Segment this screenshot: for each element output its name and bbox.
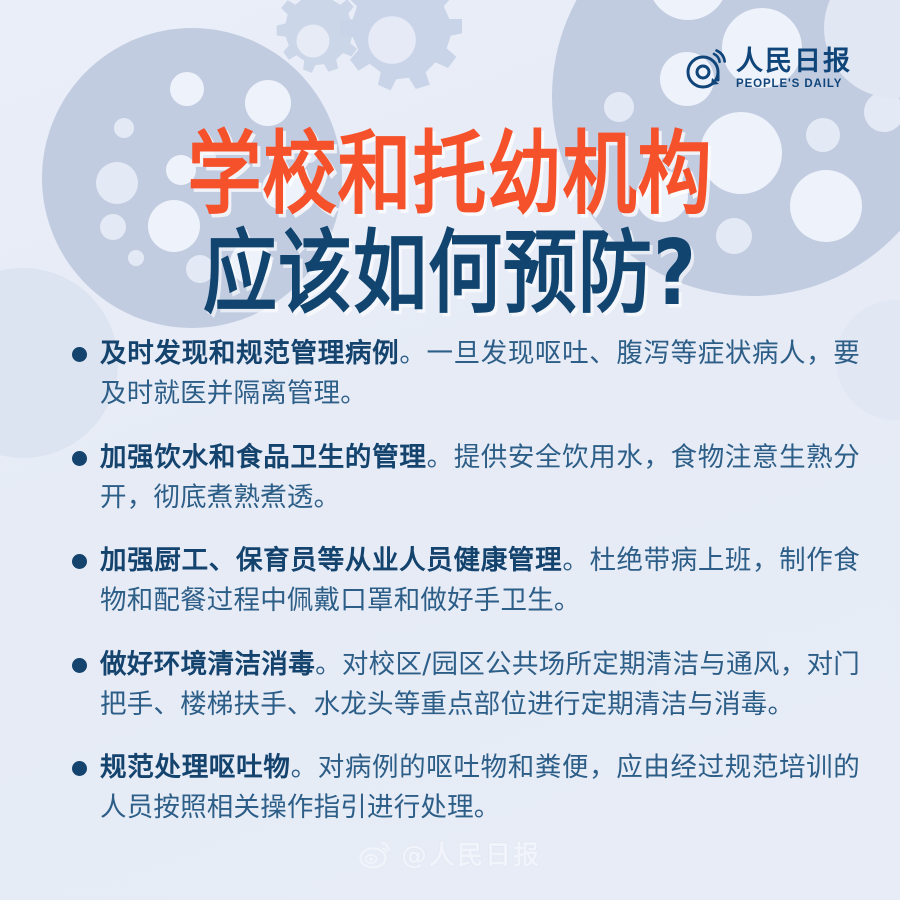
infographic-poster: 人民日报 PEOPLE'S DAILY 学校和托幼机构 应该如何预防? 及时发现… xyxy=(0,0,900,900)
list-item-lead: 做好环境清洁消毒 xyxy=(100,649,315,680)
list-item: 加强饮水和食品卫生的管理。提供安全饮用水，食物注意生熟分开，彻底煮熟煮透。 xyxy=(70,438,860,519)
list-item: 做好环境清洁消毒。对校区/园区公共场所定期清洁与通风，对门把手、楼梯扶手、水龙头… xyxy=(70,645,860,726)
title-line-1: 学校和托幼机构 xyxy=(0,128,900,222)
list-item: 及时发现和规范管理病例。一旦发现呕吐、腹泻等症状病人，要及时就医并隔离管理。 xyxy=(70,334,860,415)
weibo-watermark: @人民日报 xyxy=(0,835,900,872)
weibo-handle: @人民日报 xyxy=(401,835,541,872)
gear-icon-small xyxy=(258,0,368,96)
cell-bubble xyxy=(604,92,634,122)
gear-icon-large xyxy=(322,0,462,110)
at-signal-icon xyxy=(684,48,730,92)
list-item-lead: 加强厨工、保育员等从业人员健康管理 xyxy=(100,545,562,576)
logo-name-cn: 人民日报 xyxy=(736,48,852,76)
list-item-lead: 及时发现和规范管理病例 xyxy=(100,338,399,369)
cell-bubble xyxy=(648,0,728,20)
people-daily-logo: 人民日报 PEOPLE'S DAILY xyxy=(684,48,852,92)
bullet-dot-icon xyxy=(72,554,87,569)
weibo-icon xyxy=(359,839,393,869)
cell-bubble xyxy=(864,92,900,132)
list-item-lead: 加强饮水和食品卫生的管理 xyxy=(100,442,427,473)
list-item: 加强厨工、保育员等从业人员健康管理。杜绝带病上班，制作食物和配餐过程中佩戴口罩和… xyxy=(70,541,860,622)
cell-bubble xyxy=(170,72,204,106)
bullet-dot-icon xyxy=(72,658,87,673)
bullet-dot-icon xyxy=(72,451,87,466)
cell-bubble xyxy=(245,80,291,126)
page-title: 学校和托幼机构 应该如何预防? xyxy=(0,128,900,304)
list-item-lead: 规范处理呕吐物 xyxy=(100,752,291,783)
logo-name-en: PEOPLE'S DAILY xyxy=(736,78,852,92)
prevention-tips-list: 及时发现和规范管理病例。一旦发现呕吐、腹泻等症状病人，要及时就医并隔离管理。 加… xyxy=(70,334,860,829)
title-line-2: 应该如何预防? xyxy=(0,227,900,321)
bullet-dot-icon xyxy=(72,347,87,362)
list-item: 规范处理呕吐物。对病例的呕吐物和粪便，应由经过规范培训的人员按照相关操作指引进行… xyxy=(70,748,860,829)
bullet-dot-icon xyxy=(72,761,87,776)
